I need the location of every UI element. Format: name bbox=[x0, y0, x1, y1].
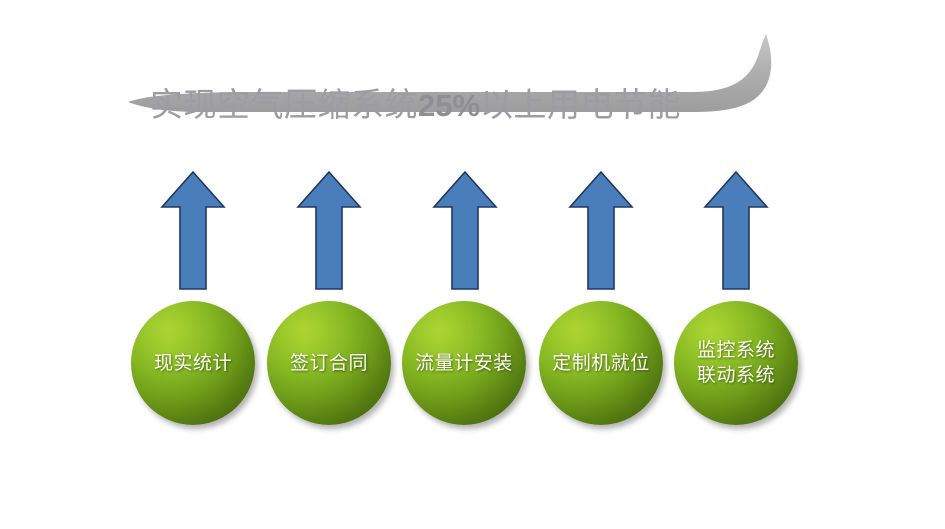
title-banner: 实现空气压缩系统25%以上用电节能 bbox=[0, 34, 945, 144]
process-node-1[interactable]: 现实统计 bbox=[131, 301, 255, 425]
arrow-shape-4 bbox=[570, 172, 632, 289]
process-node-label-5: 监控系统 联动系统 bbox=[693, 338, 779, 388]
arrow-shape-5 bbox=[705, 172, 767, 289]
arrow-shape-1 bbox=[162, 172, 224, 289]
arrow-4 bbox=[568, 170, 634, 292]
title-part-after: 以上用电节能 bbox=[480, 88, 681, 124]
page-title: 实现空气压缩系统25%以上用电节能 bbox=[150, 82, 750, 130]
process-node-label-2: 签订合同 bbox=[286, 351, 372, 376]
process-node-2[interactable]: 签订合同 bbox=[267, 301, 391, 425]
arrow-5 bbox=[703, 170, 769, 292]
slide-canvas: 实现空气压缩系统25%以上用电节能 现实统计 签订合同 流量计安装 bbox=[0, 0, 945, 529]
process-node-5[interactable]: 监控系统 联动系统 bbox=[674, 301, 798, 425]
title-part-before: 实现空气压缩系统 bbox=[150, 88, 418, 124]
arrow-shape-2 bbox=[298, 172, 360, 289]
arrow-2 bbox=[296, 170, 362, 292]
process-node-label-1: 现实统计 bbox=[150, 351, 236, 376]
process-node-3[interactable]: 流量计安装 bbox=[402, 301, 526, 425]
process-node-4[interactable]: 定制机就位 bbox=[539, 301, 663, 425]
arrow-1 bbox=[160, 170, 226, 292]
arrow-shape-3 bbox=[434, 172, 496, 289]
process-node-label-4: 定制机就位 bbox=[548, 351, 654, 376]
title-percent: 25% bbox=[418, 88, 480, 123]
process-node-label-3: 流量计安装 bbox=[411, 351, 517, 376]
arrow-3 bbox=[432, 170, 498, 292]
